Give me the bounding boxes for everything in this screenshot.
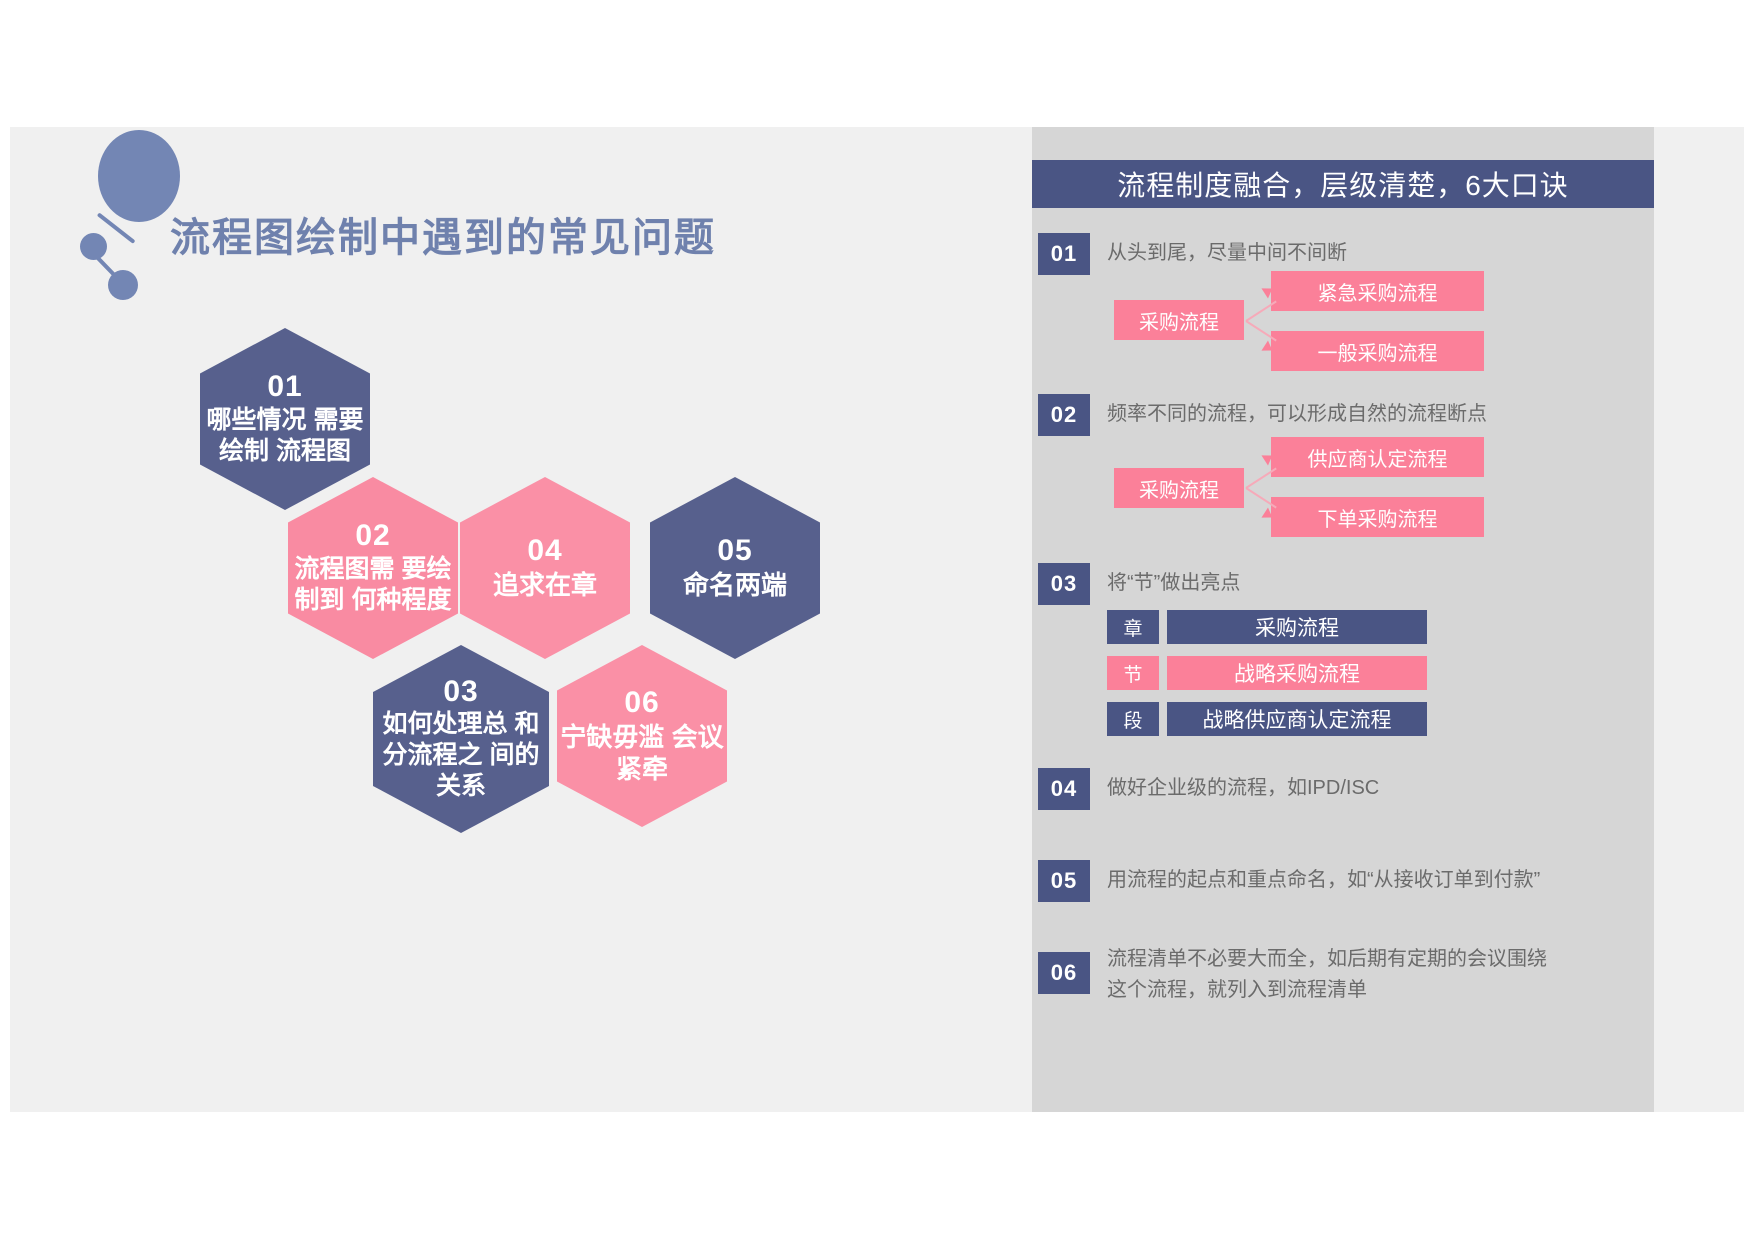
hexagon-04-number: 04 [527, 535, 562, 567]
hexagon-03-label: 如何处理总 和分流程之 间的关系 [373, 709, 549, 802]
hexagon-03[interactable]: 03 如何处理总 和分流程之 间的关系 [373, 645, 549, 833]
item-06-badge: 06 [1038, 952, 1090, 994]
item-01-badge: 01 [1038, 233, 1090, 275]
hexagon-01[interactable]: 01 哪些情况 需要绘制 流程图 [200, 328, 370, 510]
item-03-row-3-label: 段 [1107, 702, 1159, 736]
item-04-text: 做好企业级的流程，如IPD/ISC [1107, 773, 1607, 804]
item-02-source-box: 采购流程 [1114, 468, 1244, 508]
item-01-target-box-2: 一般采购流程 [1271, 331, 1484, 371]
hexagon-06-label: 宁缺毋滥 会议紧牵 [557, 721, 727, 785]
hexagon-05[interactable]: 05 命名两端 [650, 477, 820, 659]
item-03-row-2-value: 战略采购流程 [1167, 656, 1427, 690]
item-03-badge: 03 [1038, 563, 1090, 605]
hexagon-02-number: 02 [355, 520, 390, 552]
hexagon-03-number: 03 [443, 676, 478, 708]
hexagon-06-number: 06 [624, 687, 659, 719]
item-05-badge: 05 [1038, 860, 1090, 902]
item-02-target-box-1: 供应商认定流程 [1271, 437, 1484, 477]
item-01-target-box-1: 紧急采购流程 [1271, 271, 1484, 311]
item-03-row-1-value: 采购流程 [1167, 610, 1427, 644]
panel-header: 流程制度融合，层级清楚，6大口诀 [1032, 160, 1654, 208]
hexagon-02-label: 流程图需 要绘制到 何种程度 [288, 554, 458, 616]
item-03-row-2-label: 节 [1107, 656, 1159, 690]
item-03-row-3-value: 战略供应商认定流程 [1167, 702, 1427, 736]
item-01-source-box: 采购流程 [1114, 300, 1244, 340]
hexagon-06[interactable]: 06 宁缺毋滥 会议紧牵 [557, 645, 727, 827]
hexagon-02[interactable]: 02 流程图需 要绘制到 何种程度 [288, 477, 458, 659]
hexagon-01-label: 哪些情况 需要绘制 流程图 [200, 405, 370, 467]
hexagon-01-number: 01 [267, 371, 302, 403]
hexagon-04[interactable]: 04 追求在章 [460, 477, 630, 659]
item-03-row-1-label: 章 [1107, 610, 1159, 644]
hexagon-05-number: 05 [717, 535, 752, 567]
item-05-text: 用流程的起点和重点命名，如“从接收订单到付款” [1107, 865, 1647, 896]
item-02-target-box-2: 下单采购流程 [1271, 497, 1484, 537]
item-01-text: 从头到尾，尽量中间不间断 [1107, 238, 1607, 269]
item-02-text: 频率不同的流程，可以形成自然的流程断点 [1107, 399, 1627, 430]
item-06-text: 流程清单不必要大而全，如后期有定期的会议围绕 这个流程，就列入到流程清单 [1107, 944, 1627, 1006]
hexagon-cluster: 01 哪些情况 需要绘制 流程图 02 流程图需 要绘制到 何种程度 03 如何… [0, 0, 900, 1239]
slide-canvas: 流程图绘制中遇到的常见问题 01 哪些情况 需要绘制 流程图 02 流程图需 要… [0, 0, 1754, 1239]
item-04-badge: 04 [1038, 768, 1090, 810]
item-03-text: 将“节”做出亮点 [1107, 568, 1607, 599]
hexagon-05-label: 命名两端 [683, 569, 787, 601]
hexagon-04-label: 追求在章 [493, 569, 597, 601]
item-02-badge: 02 [1038, 394, 1090, 436]
